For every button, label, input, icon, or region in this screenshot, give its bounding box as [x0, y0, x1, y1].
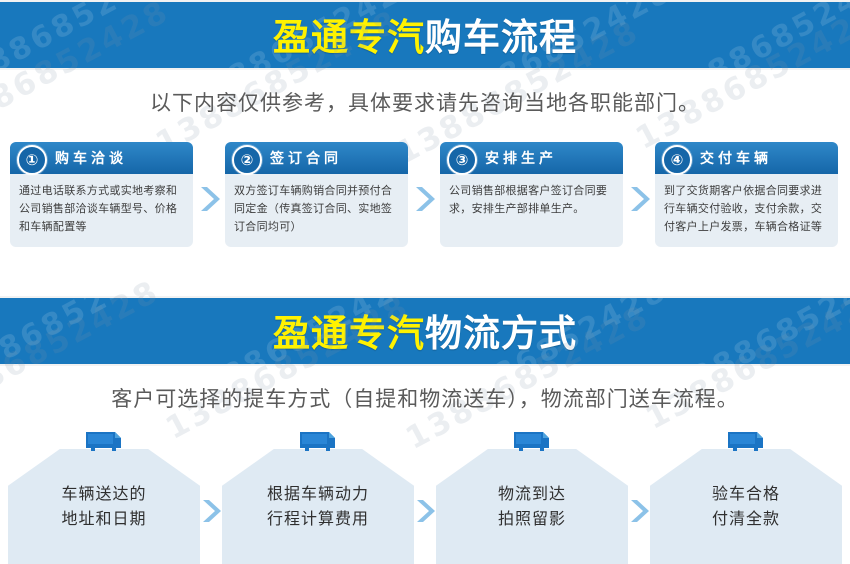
- purchase-flow-subtitle: 以下内容仅供参考，具体要求请先咨询当地各职能部门。: [0, 87, 850, 117]
- truck-icon: [726, 430, 766, 458]
- chevron-right-icon: [193, 142, 225, 214]
- logistics-subtitle: 客户可选择的提车方式（自提和物流送车），物流部门送车流程。: [0, 383, 850, 413]
- logistics-card-label: 物流到达 拍照留影: [436, 482, 628, 532]
- logistics-card-3[interactable]: 物流到达 拍照留影: [436, 430, 628, 564]
- step-card-3[interactable]: ③ 安排生产 公司销售部根据客户签订合同要求，安排生产部排单生产。: [440, 142, 623, 247]
- chevron-right-icon: [623, 142, 655, 214]
- logistics-card-line1: 根据车辆动力: [222, 482, 414, 507]
- step-description: 到了交货期客户依据合同要求进行车辆交付验收，支付余款，交付客户上户发票，车辆合格…: [655, 174, 838, 245]
- step-number-badge: ④: [662, 145, 692, 175]
- purchase-step-list: ① 购车洽谈 通过电话联系方式或实地考察和公司销售部洽谈车辆型号、价格和车辆配置…: [10, 142, 840, 252]
- step-header: ④ 交付车辆: [655, 142, 838, 174]
- logistics-card-line2: 拍照留影: [436, 507, 628, 532]
- banner-brand: 盈通专汽: [273, 16, 425, 59]
- logistics-card-4[interactable]: 验车合格 付清全款: [650, 430, 842, 564]
- step-title: 交付车辆: [700, 148, 772, 168]
- truck-icon: [298, 430, 338, 458]
- logistics-card-line1: 验车合格: [650, 482, 842, 507]
- logistics-card-line1: 物流到达: [436, 482, 628, 507]
- step-header: ③ 安排生产: [440, 142, 623, 174]
- logistics-banner: 13886852428 13886852428 13886852428 1388…: [0, 296, 850, 366]
- logistics-card-2[interactable]: 根据车辆动力 行程计算费用: [222, 430, 414, 564]
- chevron-right-icon: [414, 430, 436, 564]
- banner-brand: 盈通专汽: [273, 312, 425, 355]
- step-card-2[interactable]: ② 签订合同 双方签订车辆购销合同并预付合同定金（传真签订合同、实地签订合同均可…: [225, 142, 408, 247]
- step-title: 安排生产: [485, 148, 557, 168]
- step-card-4[interactable]: ④ 交付车辆 到了交货期客户依据合同要求进行车辆交付验收，支付余款，交付客户上户…: [655, 142, 838, 247]
- step-description: 通过电话联系方式或实地考察和公司销售部洽谈车辆型号、价格和车辆配置等: [10, 174, 193, 245]
- step-description: 双方签订车辆购销合同并预付合同定金（传真签订合同、实地签订合同均可）: [225, 174, 408, 245]
- banner-heading: 购车流程: [425, 16, 577, 59]
- banner-title: 盈通专汽物流方式: [0, 298, 850, 352]
- step-header: ② 签订合同: [225, 142, 408, 174]
- step-header: ① 购车洽谈: [10, 142, 193, 174]
- step-number-badge: ①: [17, 145, 47, 175]
- step-number-badge: ③: [447, 145, 477, 175]
- step-number-badge: ②: [232, 145, 262, 175]
- logistics-card-1[interactable]: 车辆送达的 地址和日期: [8, 430, 200, 564]
- logistics-card-label: 车辆送达的 地址和日期: [8, 482, 200, 532]
- banner-title: 盈通专汽购车流程: [0, 2, 850, 56]
- chevron-right-icon: [628, 430, 650, 564]
- banner-heading: 物流方式: [425, 312, 577, 355]
- step-title: 签订合同: [270, 148, 342, 168]
- step-description: 公司销售部根据客户签订合同要求，安排生产部排单生产。: [440, 174, 623, 228]
- step-card-1[interactable]: ① 购车洽谈 通过电话联系方式或实地考察和公司销售部洽谈车辆型号、价格和车辆配置…: [10, 142, 193, 247]
- step-title: 购车洽谈: [55, 148, 127, 168]
- purchase-flow-banner: 13886852428 13886852428 13886852428 1388…: [0, 0, 850, 70]
- logistics-card-line2: 付清全款: [650, 507, 842, 532]
- logistics-card-line2: 行程计算费用: [222, 507, 414, 532]
- truck-icon: [512, 430, 552, 458]
- chevron-right-icon: [408, 142, 440, 214]
- chevron-right-icon: [200, 430, 222, 564]
- logistics-card-label: 验车合格 付清全款: [650, 482, 842, 532]
- logistics-card-line2: 地址和日期: [8, 507, 200, 532]
- truck-icon: [84, 430, 124, 458]
- logistics-card-line1: 车辆送达的: [8, 482, 200, 507]
- logistics-card-label: 根据车辆动力 行程计算费用: [222, 482, 414, 532]
- logistics-card-list: 车辆送达的 地址和日期 根据车辆动力 行程计算费用: [8, 430, 842, 564]
